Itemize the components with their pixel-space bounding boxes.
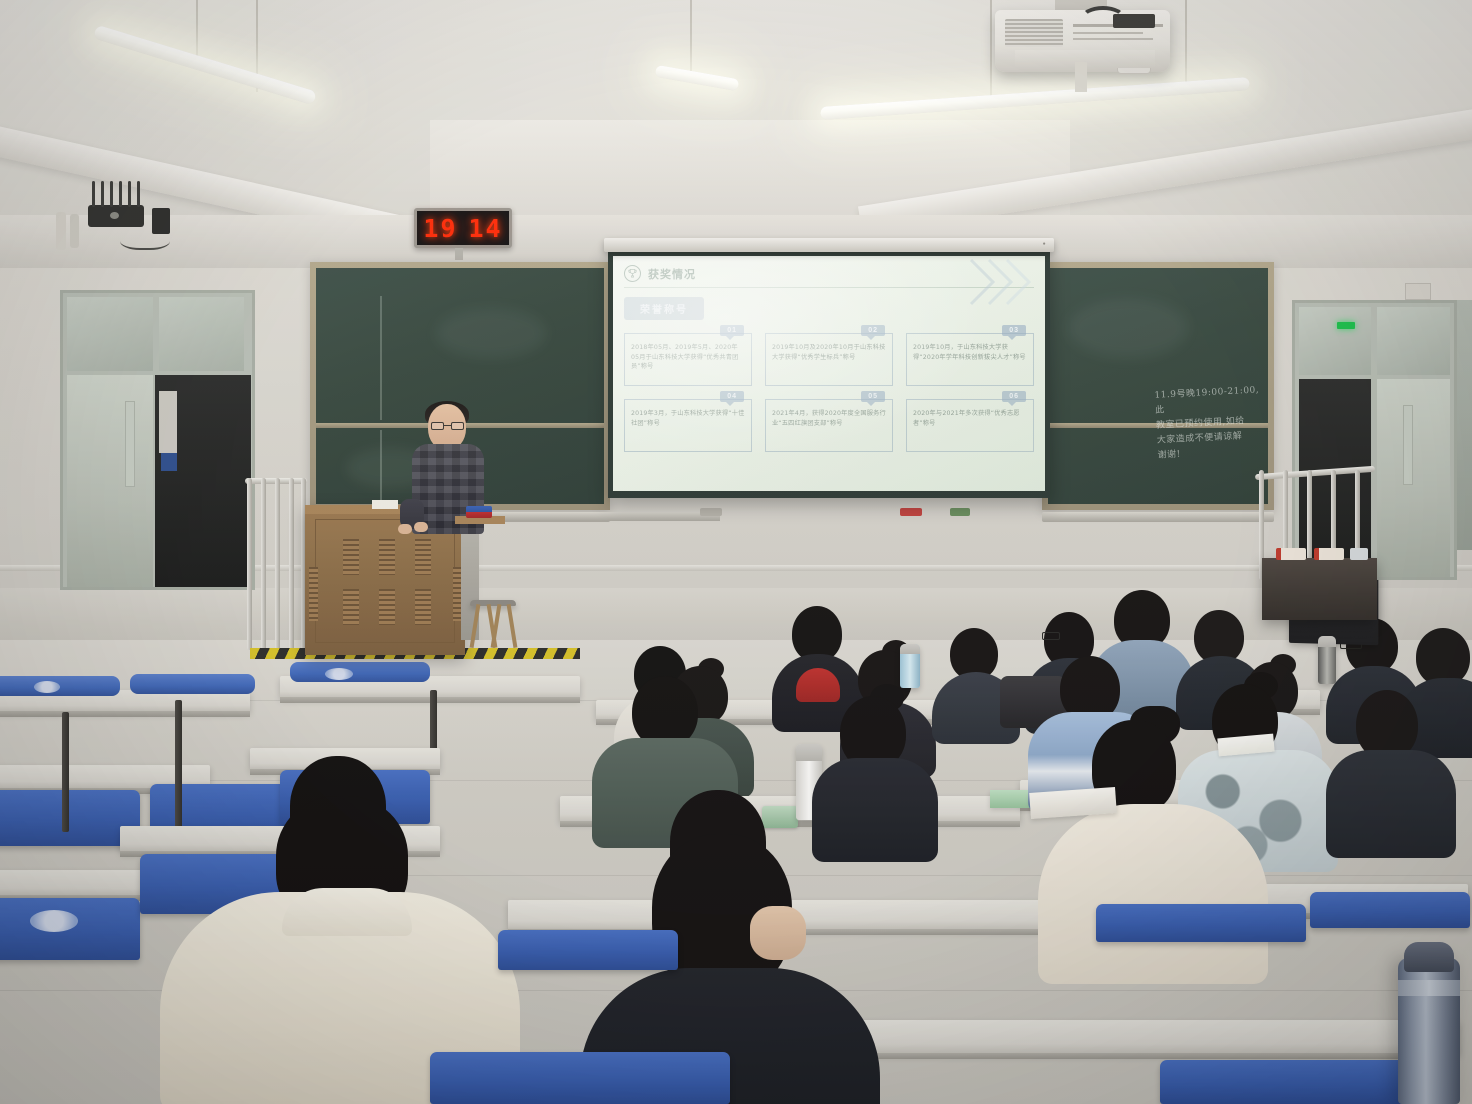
award-card-grid: 01 2018年05月、2019年5月、2020年05月于山东科技大学获得“优秀…	[624, 333, 1034, 452]
door-left-leaf[interactable]	[67, 375, 153, 587]
seat-foreground[interactable]	[1096, 904, 1306, 942]
thermos-lid	[1404, 942, 1454, 972]
award-card: 02 2019年10月及2020年10月于山东科技大学获得“优秀学生标兵”称号	[765, 333, 893, 386]
blackboard-surface: 11.9号晚19:00-21:00,此 教室已预约使用,如给 大家造成不便请谅解…	[1048, 268, 1268, 504]
seat-foreground[interactable]	[498, 930, 678, 970]
tube-light-3	[820, 77, 1250, 120]
card-text: 2019年3月，于山东科技大学获得“十佳社团”称号	[631, 409, 745, 428]
card-number: 03	[1002, 325, 1026, 336]
blackboard-eraser[interactable]	[700, 508, 722, 516]
seat-empty[interactable]	[0, 790, 140, 846]
classroom-photo-scene: 19 14 11.9	[0, 0, 1472, 1104]
chalk-smudge	[1068, 298, 1188, 358]
ceiling	[0, 0, 1472, 270]
lectern-vent	[309, 567, 318, 621]
slide-canvas: 获奖情况 荣誉称号 01 2018年05月、2019年5月、2020年05月于山…	[613, 256, 1045, 491]
seat-empty[interactable]	[0, 676, 120, 696]
projector-arm	[1075, 62, 1087, 92]
card-number: 01	[720, 325, 744, 336]
seat-sticker	[34, 681, 60, 693]
projector-label	[1073, 38, 1153, 40]
desk-leg	[175, 700, 182, 830]
seat-empty[interactable]	[130, 674, 255, 694]
card-number: 05	[861, 391, 885, 402]
jammer-led	[110, 212, 119, 219]
light-hanger	[990, 0, 992, 96]
door-transom-glass[interactable]	[67, 297, 153, 371]
chalk-smudge	[436, 308, 546, 358]
chalk-box[interactable]	[466, 506, 492, 518]
light-hanger	[1185, 0, 1187, 86]
chalk-box[interactable]	[1314, 548, 1344, 560]
eraser[interactable]	[1350, 548, 1368, 560]
slide-title: 获奖情况	[648, 266, 696, 282]
chalk-handwriting: 11.9号晚19:00-21:00,此 教室已预约使用,如给 大家造成不便请谅解…	[1154, 383, 1266, 464]
award-card: 03 2019年10月，于山东科技大学获得“2020年学年科技创新拔尖人才”称号	[906, 333, 1034, 386]
presenter-hand-right	[414, 522, 428, 532]
glasses-icon	[431, 422, 464, 430]
thermos-bottle[interactable]	[1318, 636, 1336, 684]
wall-canister	[70, 214, 79, 248]
presenter-hand-left	[398, 524, 412, 534]
desk-leg	[62, 712, 69, 832]
door-transom-glass[interactable]	[1299, 307, 1371, 375]
door-transom-glass[interactable]	[159, 297, 244, 371]
chalk-stick[interactable]	[900, 508, 922, 516]
door-right-leaf[interactable]	[1377, 379, 1450, 577]
award-card: 04 2019年3月，于山东科技大学获得“十佳社团”称号	[624, 399, 752, 452]
wall-speaker	[1405, 283, 1431, 300]
light-hanger	[690, 0, 692, 72]
corridor-object	[159, 391, 177, 453]
hood	[282, 888, 412, 936]
card-text: 2019年10月，于山东科技大学获得“2020年学年科技创新拔尖人才”称号	[913, 343, 1027, 362]
projection-screen-housing[interactable]: ●	[604, 238, 1054, 252]
trophy-icon	[624, 265, 641, 282]
seat-foreground[interactable]	[1310, 892, 1470, 928]
award-card: 06 2020年与2021年多次获得“优秀志愿者”称号	[906, 399, 1034, 452]
smartphone[interactable]	[762, 806, 798, 828]
award-card: 05 2021年4月，获得2020年度全国服务行业“五四红旗团支部”称号	[765, 399, 893, 452]
water-bottle[interactable]	[900, 644, 920, 688]
seat-foreground[interactable]	[430, 1052, 730, 1104]
lectern-vent	[343, 539, 359, 575]
wall-clock: 19 14	[414, 208, 512, 248]
lectern-vent	[343, 589, 359, 625]
projection-screen: 获奖情况 荣誉称号 01 2018年05月、2019年5月、2020年05月于山…	[608, 250, 1050, 498]
screen-brand-label: ●	[1043, 241, 1046, 247]
tube-light-1	[93, 25, 317, 106]
thermos-ring	[1398, 980, 1460, 996]
clock-minutes: 14	[469, 214, 503, 243]
folding-stool	[470, 600, 516, 648]
seat-empty[interactable]	[290, 662, 430, 682]
desk-empty	[0, 870, 150, 896]
seat-foreground[interactable]	[1160, 1060, 1410, 1104]
lectern-vent	[415, 589, 431, 625]
podium-paper	[372, 500, 398, 509]
door-vision-panel	[1403, 405, 1413, 485]
lectern-vent	[379, 589, 395, 625]
side-cabinet	[1262, 558, 1377, 620]
lectern-vent	[415, 539, 431, 575]
card-number: 02	[861, 325, 885, 336]
chalk-box[interactable]	[1276, 548, 1306, 560]
card-text: 2020年与2021年多次获得“优秀志愿者”称号	[913, 409, 1027, 428]
wall-canister	[56, 212, 66, 250]
lectern-vent	[379, 539, 395, 575]
chalk-tray-center	[480, 512, 720, 521]
clock-bracket	[455, 248, 463, 260]
card-number: 04	[720, 391, 744, 402]
hand	[750, 906, 806, 960]
door-left-frame	[60, 290, 255, 590]
desk-leg	[430, 690, 437, 750]
corridor-object	[161, 453, 177, 471]
card-text: 2019年10月及2020年10月于山东科技大学获得“优秀学生标兵”称号	[772, 343, 886, 362]
door-transom-glass[interactable]	[1377, 307, 1450, 375]
chevron-decoration-icon	[931, 258, 1041, 306]
projector-vent	[1005, 19, 1063, 47]
blackboard-right: 11.9号晚19:00-21:00,此 教室已预约使用,如给 大家造成不便请谅解…	[1042, 262, 1274, 510]
blackboard-chalk-line	[380, 296, 382, 420]
clock-hours: 19	[423, 214, 457, 243]
card-text: 2021年4月，获得2020年度全国服务行业“五四红旗团支部”称号	[772, 409, 886, 428]
glasses-icon	[1042, 632, 1060, 640]
section-tag: 荣誉称号	[624, 297, 704, 320]
presentation-slide: 获奖情况 荣誉称号 01 2018年05月、2019年5月、2020年05月于山…	[613, 256, 1045, 491]
card-text: 2018年05月、2019年5月、2020年05月于山东科技大学获得“优秀共青团…	[631, 343, 745, 372]
stage-railing-left	[245, 478, 307, 650]
award-card: 01 2018年05月、2019年5月、2020年05月于山东科技大学获得“优秀…	[624, 333, 752, 386]
exit-sign-icon	[1337, 322, 1355, 329]
projector-cable	[1110, 16, 1150, 38]
tube-light-2	[655, 65, 740, 91]
signal-jammer-icon	[88, 205, 144, 227]
chalk-tray-right	[1042, 512, 1274, 522]
door-vision-panel	[125, 401, 135, 487]
seat-sticker	[30, 910, 78, 932]
light-hanger	[196, 0, 198, 58]
seat-sticker	[325, 668, 353, 680]
foreground-thermos-bottle[interactable]	[1398, 958, 1460, 1104]
card-number: 06	[1002, 391, 1026, 402]
chalk-stick[interactable]	[950, 508, 970, 516]
power-cable	[120, 228, 170, 250]
